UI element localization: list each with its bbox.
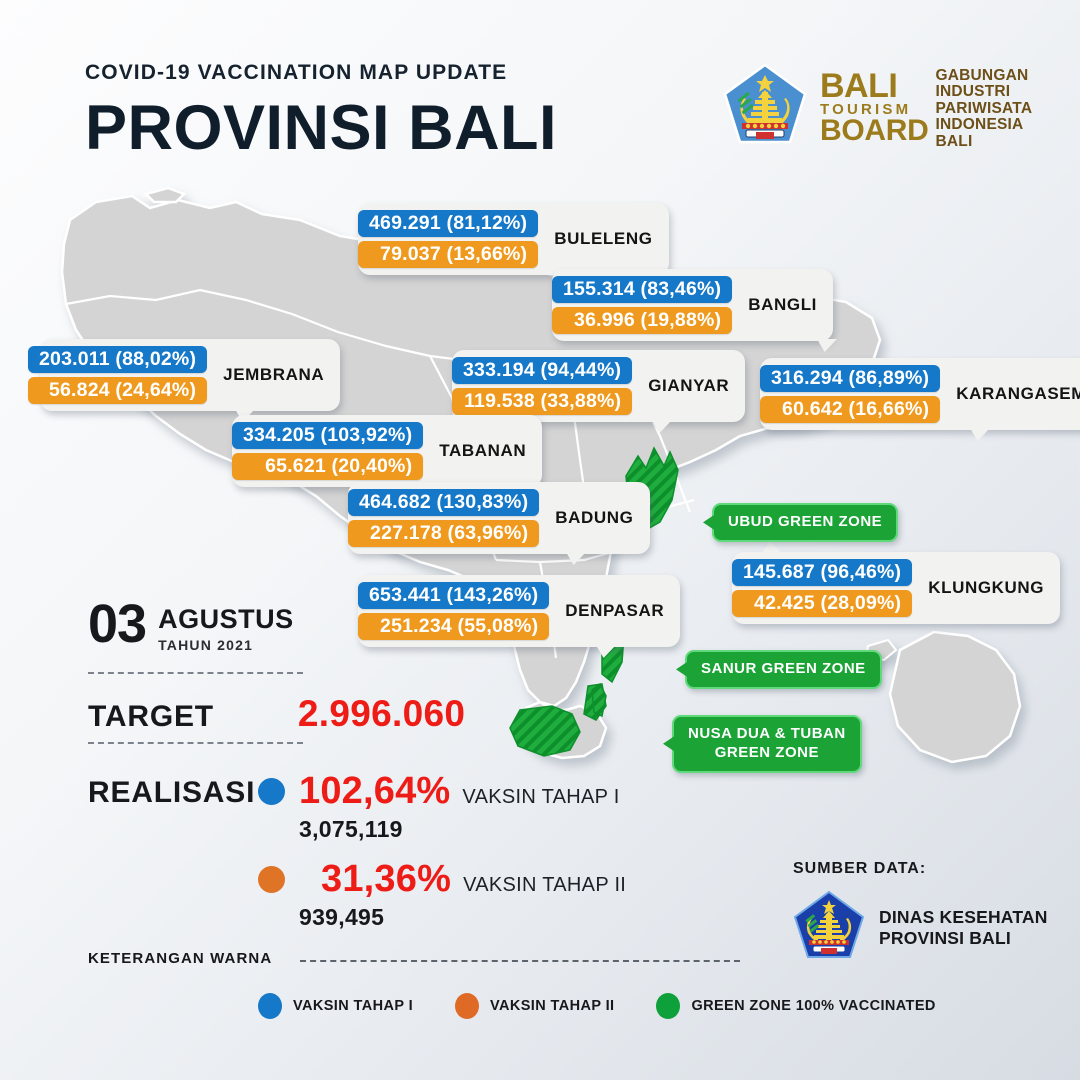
btb-subtitle: GABUNGAN INDUSTRI PARIWISATA INDONESIA B…: [936, 66, 1033, 150]
green-zone-tag-ubud[interactable]: UBUD GREEN ZONE: [712, 503, 898, 542]
btb-board-text: BOARD: [820, 117, 929, 145]
dose2-bar: 227.178 (63,96%): [348, 520, 539, 547]
callout-denpasar[interactable]: 653.441 (143,26%) 251.234 (55,08%) DENPA…: [358, 575, 680, 647]
legend-items: VAKSIN TAHAP I VAKSIN TAHAP II GREEN ZON…: [258, 993, 978, 1019]
data-source-body: DINAS KESEHATAN PROVINSI BALI: [793, 890, 1048, 966]
nusa-dua-green-zone-shape: [510, 706, 580, 756]
header-kicker: COVID-19 VACCINATION MAP UPDATE: [85, 62, 557, 83]
benoa-green-zone-shape: [592, 684, 606, 716]
callout-bars: 653.441 (143,26%) 251.234 (55,08%): [358, 582, 549, 640]
realisasi-label: REALISASI: [88, 776, 255, 810]
callout-jembrana[interactable]: 203.011 (88,02%) 56.824 (24,64%) JEMBRAN…: [40, 339, 340, 411]
legend-title: KETERANGAN WARNA: [88, 950, 272, 967]
dose2-bar: 56.824 (24,64%): [28, 377, 207, 404]
dose1-color-dot-icon: [258, 778, 285, 805]
regency-name: KLUNGKUNG: [912, 578, 1060, 598]
dose2-bar: 36.996 (19,88%): [552, 307, 732, 334]
legend-label: GREEN ZONE 100% VACCINATED: [691, 998, 935, 1014]
btb-sub-1: GABUNGAN: [936, 68, 1033, 84]
dose2-bar: 60.642 (16,66%): [760, 396, 940, 423]
callout-buleleng[interactable]: 469.291 (81,12%) 79.037 (13,66%) BULELEN…: [358, 203, 669, 275]
date-month-year: AGUSTUS TAHUN 2021: [158, 600, 294, 653]
target-block: TARGET 2.996.060: [88, 693, 465, 735]
green-zone-tag-nusa-dua-tuban[interactable]: NUSA DUA & TUBAN GREEN ZONE: [672, 715, 862, 773]
date-block: 03 AGUSTUS TAHUN 2021: [88, 600, 294, 653]
green-zone-label: UBUD GREEN ZONE: [728, 513, 882, 530]
legend-blue-dot-icon: [258, 993, 282, 1019]
btb-sub-4: INDONESIA: [936, 117, 1033, 133]
data-source-name: DINAS KESEHATAN PROVINSI BALI: [879, 907, 1048, 950]
target-value: 2.996.060: [298, 693, 465, 735]
callout-bars: 316.294 (86,89%) 60.642 (16,66%): [760, 365, 940, 423]
btb-bali-text: BALI: [820, 71, 929, 103]
dose2-bar: 42.425 (28,09%): [732, 590, 912, 617]
divider-bottom: [88, 742, 303, 744]
dose1-bar: 464.682 (130,83%): [348, 489, 539, 516]
btb-wordmark: BALI TOURISM BOARD GABUNGAN INDUSTRI PAR…: [820, 66, 1032, 150]
regency-name: DENPASAR: [549, 601, 680, 621]
dose1-bar: 653.441 (143,26%): [358, 582, 549, 609]
data-source-title: SUMBER DATA:: [793, 860, 1048, 878]
dose1-bar: 334.205 (103,92%): [232, 422, 423, 449]
regency-name: GIANYAR: [632, 376, 745, 396]
date-day: 03: [88, 600, 146, 650]
callout-bars: 469.291 (81,12%) 79.037 (13,66%): [358, 210, 538, 268]
callout-gianyar[interactable]: 333.194 (94,44%) 119.538 (33,88%) GIANYA…: [452, 350, 745, 422]
dose1-percent: 102,64%: [299, 772, 450, 810]
dose2-bar: 119.538 (33,88%): [452, 388, 632, 415]
callout-klungkung[interactable]: 145.687 (96,46%) 42.425 (28,09%) KLUNGKU…: [732, 552, 1060, 624]
callout-bars: 203.011 (88,02%) 56.824 (24,64%): [28, 346, 207, 404]
data-source-line1: DINAS KESEHATAN: [879, 907, 1048, 928]
divider-top: [88, 672, 303, 674]
green-zone-label: SANUR GREEN ZONE: [701, 660, 866, 677]
dose1-caption: VAKSIN TAHAP I: [462, 786, 619, 809]
dose2-bar: 65.621 (20,40%): [232, 453, 423, 480]
data-source-block: SUMBER DATA:: [793, 860, 1048, 966]
legend-item-green-zone: GREEN ZONE 100% VACCINATED: [656, 993, 935, 1019]
date-year: TAHUN 2021: [158, 637, 294, 653]
dose1-bar: 203.011 (88,02%): [28, 346, 207, 373]
dose2-bar: 79.037 (13,66%): [358, 241, 538, 268]
realisasi-row-dose1: 102,64% VAKSIN TAHAP I 3,075,119: [258, 772, 620, 843]
regency-name: BADUNG: [539, 508, 649, 528]
regency-name: TABANAN: [423, 441, 542, 461]
page-header: COVID-19 VACCINATION MAP UPDATE PROVINSI…: [85, 62, 557, 160]
dose1-absolute: 3,075,119: [299, 816, 620, 843]
dose1-bar: 316.294 (86,89%): [760, 365, 940, 392]
callout-bars: 333.194 (94,44%) 119.538 (33,88%): [452, 357, 632, 415]
callout-bars: 464.682 (130,83%) 227.178 (63,96%): [348, 489, 539, 547]
dose2-absolute: 939,495: [299, 904, 626, 931]
callout-karangasem[interactable]: 316.294 (86,89%) 60.642 (16,66%) KARANGA…: [760, 358, 1080, 430]
dose1-bar: 469.291 (81,12%): [358, 210, 538, 237]
legend-divider: [300, 960, 740, 962]
callout-bangli[interactable]: 155.314 (83,46%) 36.996 (19,88%) BANGLI: [552, 269, 833, 341]
dose2-percent: 31,36%: [321, 860, 451, 898]
btb-sub-3: PARIWISATA: [936, 101, 1033, 117]
data-source-line2: PROVINSI BALI: [879, 928, 1048, 949]
date-month: AGUSTUS: [158, 606, 294, 633]
legend-orange-dot-icon: [455, 993, 479, 1019]
callout-tabanan[interactable]: 334.205 (103,92%) 65.621 (20,40%) TABANA…: [232, 415, 542, 487]
green-zone-label-line2: GREEN ZONE: [688, 744, 846, 763]
legend-green-dot-icon: [656, 993, 680, 1019]
legend-item-dose1: VAKSIN TAHAP I: [258, 993, 413, 1019]
regency-name: JEMBRANA: [207, 365, 340, 385]
infographic-root: COVID-19 VACCINATION MAP UPDATE PROVINSI…: [0, 0, 1080, 1080]
green-zone-tag-sanur[interactable]: SANUR GREEN ZONE: [685, 650, 882, 689]
regency-name: BANGLI: [732, 295, 833, 315]
legend-item-dose2: VAKSIN TAHAP II: [455, 993, 614, 1019]
dose1-bar: 333.194 (94,44%): [452, 357, 632, 384]
dose1-bar: 145.687 (96,46%): [732, 559, 912, 586]
legend-label: VAKSIN TAHAP I: [293, 998, 413, 1014]
bali-provincial-crest-icon: [722, 62, 808, 154]
dose1-bar: 155.314 (83,46%): [552, 276, 732, 303]
regency-name: KARANGASEM: [940, 384, 1080, 404]
legend-label: VAKSIN TAHAP II: [490, 998, 614, 1014]
green-zone-label-line1: NUSA DUA & TUBAN: [688, 725, 846, 744]
bali-tourism-board-logo: BALI TOURISM BOARD GABUNGAN INDUSTRI PAR…: [722, 62, 1032, 154]
regency-name: BULELENG: [538, 229, 668, 249]
dinas-kesehatan-crest-icon: [793, 890, 865, 966]
dose2-bar: 251.234 (55,08%): [358, 613, 549, 640]
dose2-caption: VAKSIN TAHAP II: [463, 874, 626, 897]
callout-bars: 334.205 (103,92%) 65.621 (20,40%): [232, 422, 423, 480]
btb-sub-5: BALI: [936, 134, 1033, 150]
callout-bars: 155.314 (83,46%) 36.996 (19,88%): [552, 276, 732, 334]
dose2-color-dot-icon: [258, 866, 285, 893]
callout-bars: 145.687 (96,46%) 42.425 (28,09%): [732, 559, 912, 617]
btb-sub-2: INDUSTRI: [936, 84, 1033, 100]
callout-badung[interactable]: 464.682 (130,83%) 227.178 (63,96%) BADUN…: [348, 482, 650, 554]
target-label: TARGET: [88, 700, 214, 734]
realisasi-row-dose2: 31,36% VAKSIN TAHAP II 939,495: [258, 860, 626, 931]
